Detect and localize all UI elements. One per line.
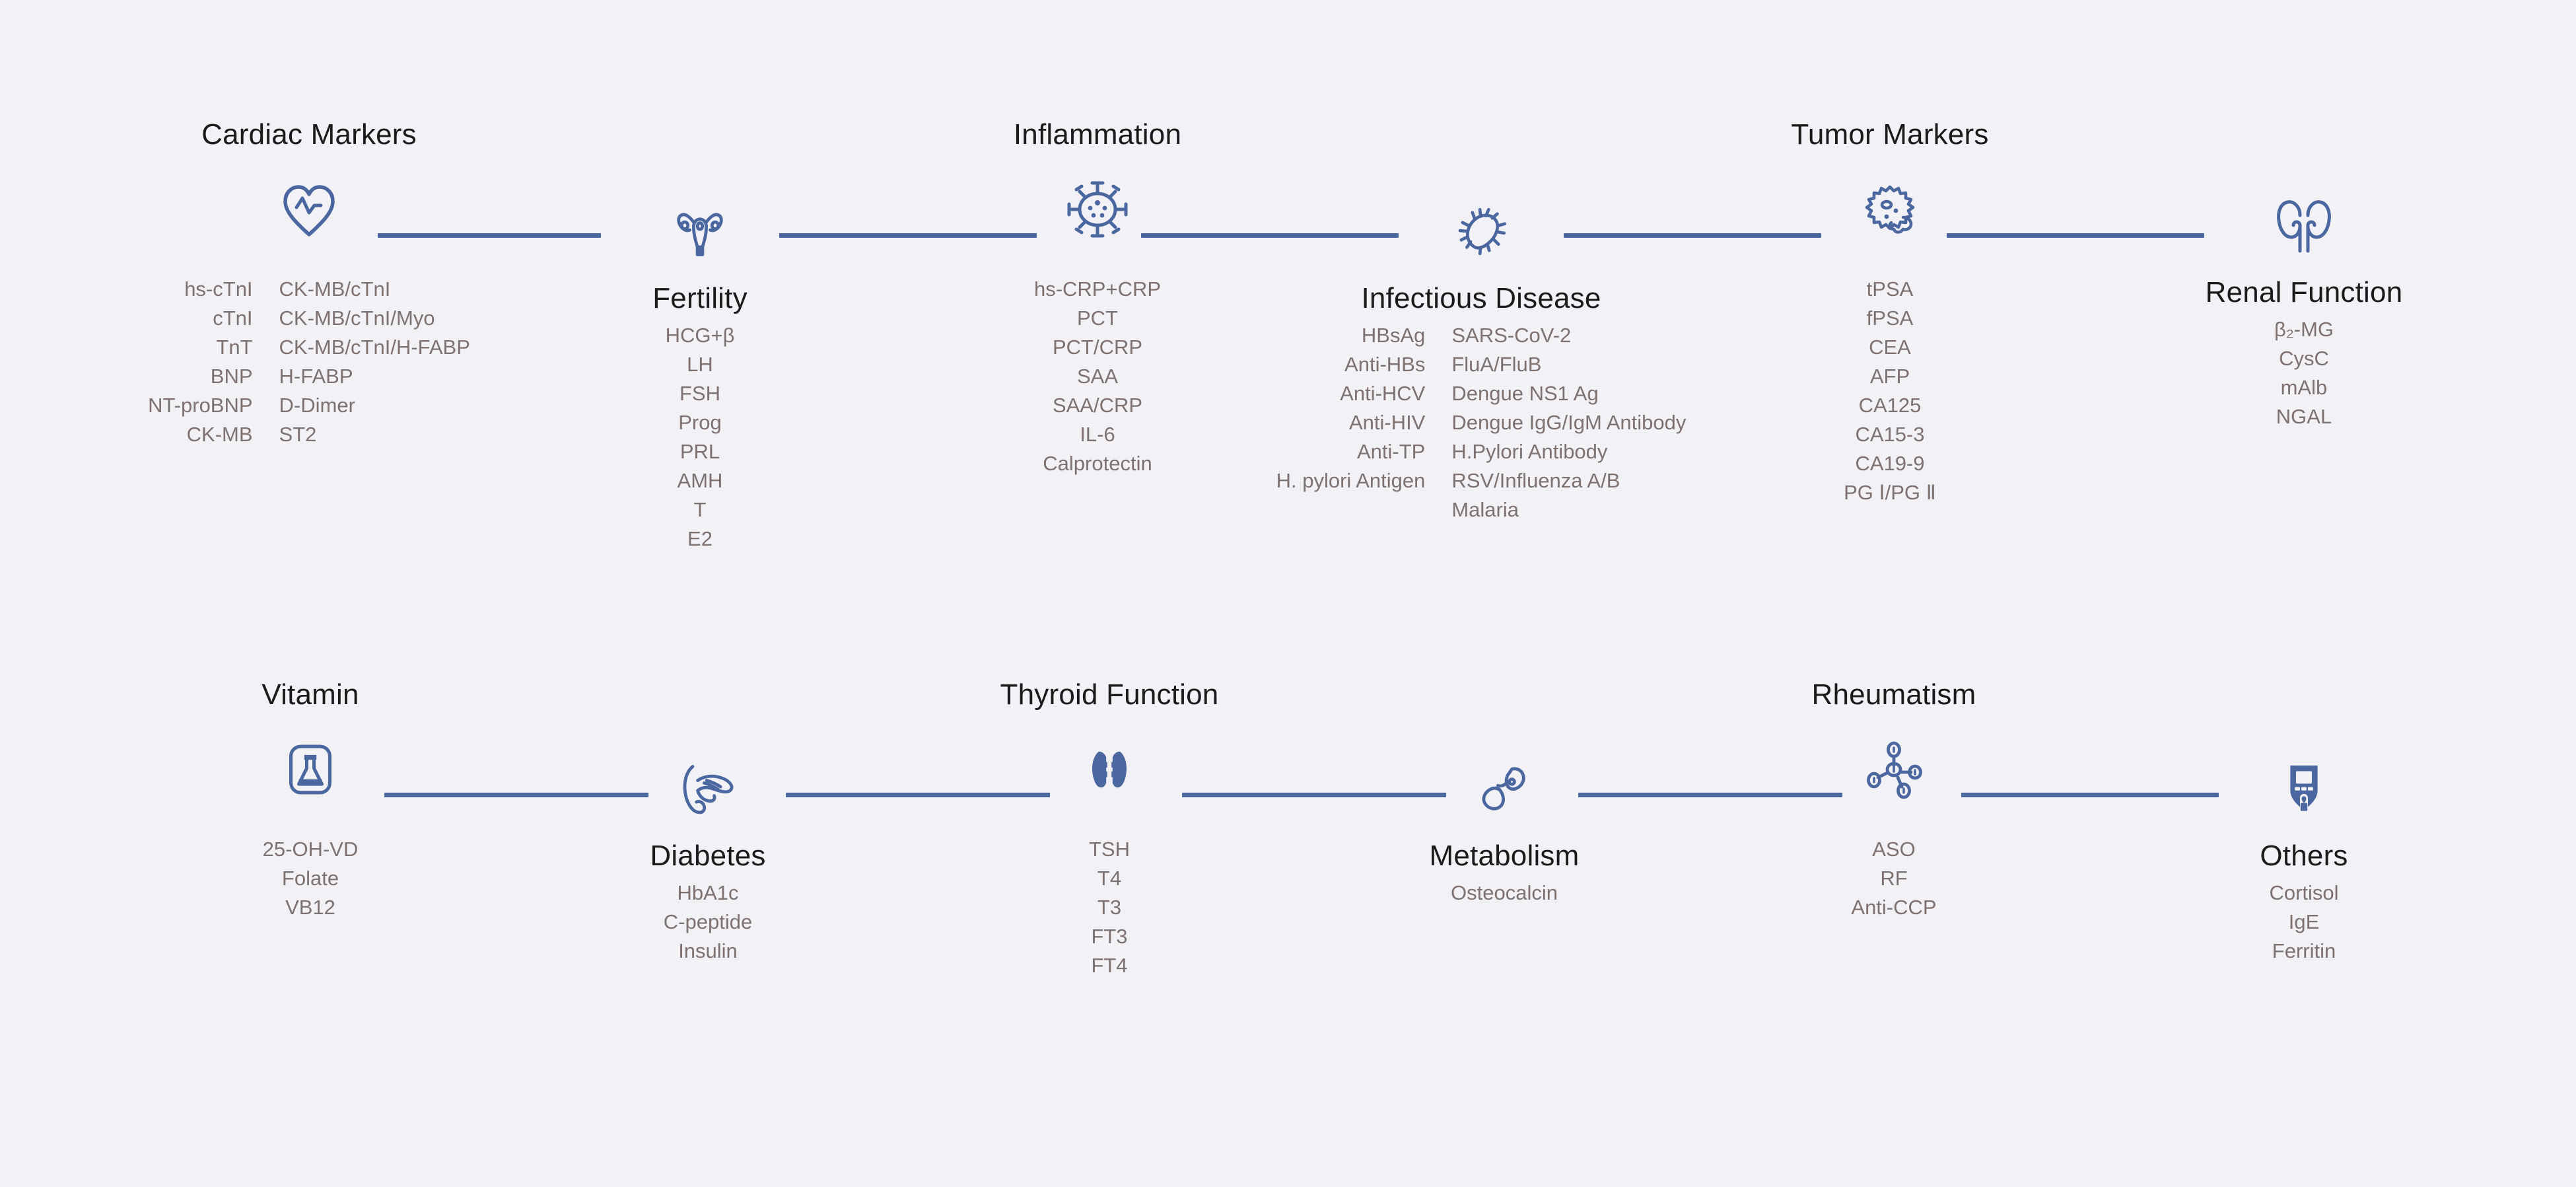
item-list: HBsAg Anti-HBs Anti-HCV Anti-HIV Anti-TP… [1276, 321, 1687, 524]
item-list: Osteocalcin [1451, 879, 1558, 908]
list-item: hs-cTnI [148, 275, 252, 304]
list-item: CA19-9 [1844, 449, 1936, 478]
list-item: H.Pylori Antibody [1451, 437, 1686, 466]
list-item: NT-proBNP [148, 391, 252, 420]
list-item: CEA [1844, 333, 1936, 362]
list-item: TnT [148, 333, 252, 362]
list-item: IgE [2269, 908, 2338, 937]
item-list: Cortisol IgE Ferritin [2269, 879, 2338, 966]
list-item: FluA/FluB [1451, 350, 1686, 379]
list-item: H. pylori Antigen [1276, 466, 1426, 495]
list-item: ST2 [279, 420, 470, 449]
flask-icon [274, 733, 347, 806]
node-title: Thyroid Function [1000, 680, 1219, 709]
list-item: PG Ⅰ/PG Ⅱ [1844, 478, 1936, 507]
list-item: Dengue NS1 Ag [1451, 379, 1686, 408]
list-item: T4 [1089, 864, 1130, 893]
list-item: PCT/CRP [1034, 333, 1161, 362]
list-item: RSV/Influenza A/B [1451, 466, 1686, 495]
item-list: HbA1c C-peptide Insulin [664, 879, 752, 966]
list-item: CK-MB/cTnI/H-FABP [279, 333, 470, 362]
node-fertility[interactable]: Fertility HCG+β LH FSH Prog PRL AMH T E2 [495, 196, 905, 554]
node-title: Renal Function [2206, 278, 2403, 307]
node-metabolism[interactable]: Metabolism Osteocalcin [1300, 753, 1709, 908]
diagnostics-panel-overview: Cardiac Markers hs-cTnI cTnI TnT BNP NT-… [0, 0, 2576, 1187]
list-item: tPSA [1844, 275, 1936, 304]
node-title: Fertility [652, 284, 748, 313]
node-title: Rheumatism [1812, 680, 1976, 709]
list-item: H-FABP [279, 362, 470, 391]
list-item: cTnI [148, 304, 252, 333]
bone-joint-icon [1468, 753, 1541, 826]
list-item: HbA1c [664, 879, 752, 908]
list-item: Folate [263, 864, 359, 893]
list-item: BNP [148, 362, 252, 391]
list-item: NGAL [2274, 402, 2334, 431]
pancreas-icon [672, 753, 744, 826]
glucometer-icon [2268, 753, 2340, 826]
list-item: T3 [1089, 893, 1130, 922]
list-item: HBsAg [1276, 321, 1426, 350]
list-item: PRL [666, 437, 735, 466]
item-list: 25-OH-VD Folate VB12 [263, 835, 359, 922]
item-list: hs-cTnI cTnI TnT BNP NT-proBNP CK-MB CK-… [148, 275, 470, 449]
list-item: Malaria [1451, 495, 1686, 524]
list-item: SAA [1034, 362, 1161, 391]
list-item: Calprotectin [1034, 449, 1161, 478]
list-item: Anti-HIV [1276, 408, 1426, 437]
node-vitamin[interactable]: Vitamin 25-OH-VD Folate VB12 [106, 680, 515, 922]
list-item: VB12 [263, 893, 359, 922]
node-infectious-disease[interactable]: Infectious Disease HBsAg Anti-HBs Anti-H… [1276, 196, 1686, 524]
list-item: Anti-HCV [1276, 379, 1426, 408]
list-item: Prog [666, 408, 735, 437]
list-item: CK-MB/cTnI [279, 275, 470, 304]
list-item: LH [666, 350, 735, 379]
list-item: HCG+β [666, 321, 735, 350]
list-item: CA125 [1844, 391, 1936, 420]
node-title: Cardiac Markers [201, 120, 417, 149]
list-item: CysC [2274, 344, 2334, 373]
thyroid-icon [1073, 733, 1146, 806]
node-diabetes[interactable]: Diabetes HbA1c C-peptide Insulin [503, 753, 913, 966]
list-item: PCT [1034, 304, 1161, 333]
list-item: CK-MB/cTnI/Myo [279, 304, 470, 333]
list-item: SARS-CoV-2 [1451, 321, 1686, 350]
node-rheumatism[interactable]: Rheumatism ASO RF Anti-CCP [1689, 680, 2099, 922]
node-title: Infectious Disease [1361, 284, 1601, 313]
list-item: SAA/CRP [1034, 391, 1161, 420]
list-item: E2 [666, 524, 735, 554]
list-item: Cortisol [2269, 879, 2338, 908]
heart-pulse-icon [273, 173, 345, 246]
molecule-icon [1858, 733, 1930, 806]
kidney-icon [2268, 190, 2340, 262]
item-list: β₂-MG CysC mAlb NGAL [2274, 315, 2334, 431]
list-item: AFP [1844, 362, 1936, 391]
item-list: ASO RF Anti-CCP [1851, 835, 1936, 922]
node-title: Tumor Markers [1791, 120, 1988, 149]
node-thyroid-function[interactable]: Thyroid Function TSH T4 T3 FT3 FT4 [905, 680, 1314, 980]
list-item: mAlb [2274, 373, 2334, 402]
item-list: hs-CRP+CRP PCT PCT/CRP SAA SAA/CRP IL-6 … [1034, 275, 1161, 478]
list-item: RF [1851, 864, 1936, 893]
item-list: TSH T4 T3 FT3 FT4 [1089, 835, 1130, 980]
node-title: Metabolism [1430, 842, 1580, 871]
node-others[interactable]: Others Cortisol IgE Ferritin [2099, 753, 2509, 966]
node-title: Inflammation [1014, 120, 1181, 149]
bacteria-icon [1445, 196, 1517, 268]
item-list: HCG+β LH FSH Prog PRL AMH T E2 [666, 321, 735, 554]
list-item: Osteocalcin [1451, 879, 1558, 908]
tumor-cell-icon [1854, 173, 1926, 246]
node-inflammation[interactable]: Inflammation hs-CRP+CRP PCT [893, 120, 1302, 478]
list-item: CK-MB [148, 420, 252, 449]
item-list: tPSA fPSA CEA AFP CA125 CA15-3 CA19-9 PG… [1844, 275, 1936, 507]
list-item: hs-CRP+CRP [1034, 275, 1161, 304]
list-item: TSH [1089, 835, 1130, 864]
list-item: T [666, 495, 735, 524]
list-item: FT3 [1089, 922, 1130, 951]
list-item: Anti-HBs [1276, 350, 1426, 379]
list-item: Dengue IgG/IgM Antibody [1451, 408, 1686, 437]
node-title: Others [2260, 842, 2348, 871]
list-item: β₂-MG [2274, 315, 2334, 344]
list-item: IL-6 [1034, 420, 1161, 449]
list-item: 25-OH-VD [263, 835, 359, 864]
node-title: Vitamin [261, 680, 359, 709]
list-item: AMH [666, 466, 735, 495]
list-item: Ferritin [2269, 937, 2338, 966]
list-item: fPSA [1844, 304, 1936, 333]
virus-icon [1061, 173, 1134, 246]
list-item: Anti-TP [1276, 437, 1426, 466]
node-renal-function[interactable]: Renal Function β₂-MG CysC mAlb NGAL [2099, 190, 2509, 431]
node-tumor-markers[interactable]: Tumor Markers tPSA fPSA CEA AFP CA125 CA… [1685, 120, 2095, 507]
node-cardiac-markers[interactable]: Cardiac Markers hs-cTnI cTnI TnT BNP NT-… [104, 120, 514, 449]
list-item: CA15-3 [1844, 420, 1936, 449]
list-item: Insulin [664, 937, 752, 966]
uterus-icon [664, 196, 736, 268]
list-item: ASO [1851, 835, 1936, 864]
list-item: C-peptide [664, 908, 752, 937]
list-item: D-Dimer [279, 391, 470, 420]
list-item: Anti-CCP [1851, 893, 1936, 922]
node-title: Diabetes [650, 842, 765, 871]
list-item: FSH [666, 379, 735, 408]
list-item: FT4 [1089, 951, 1130, 980]
